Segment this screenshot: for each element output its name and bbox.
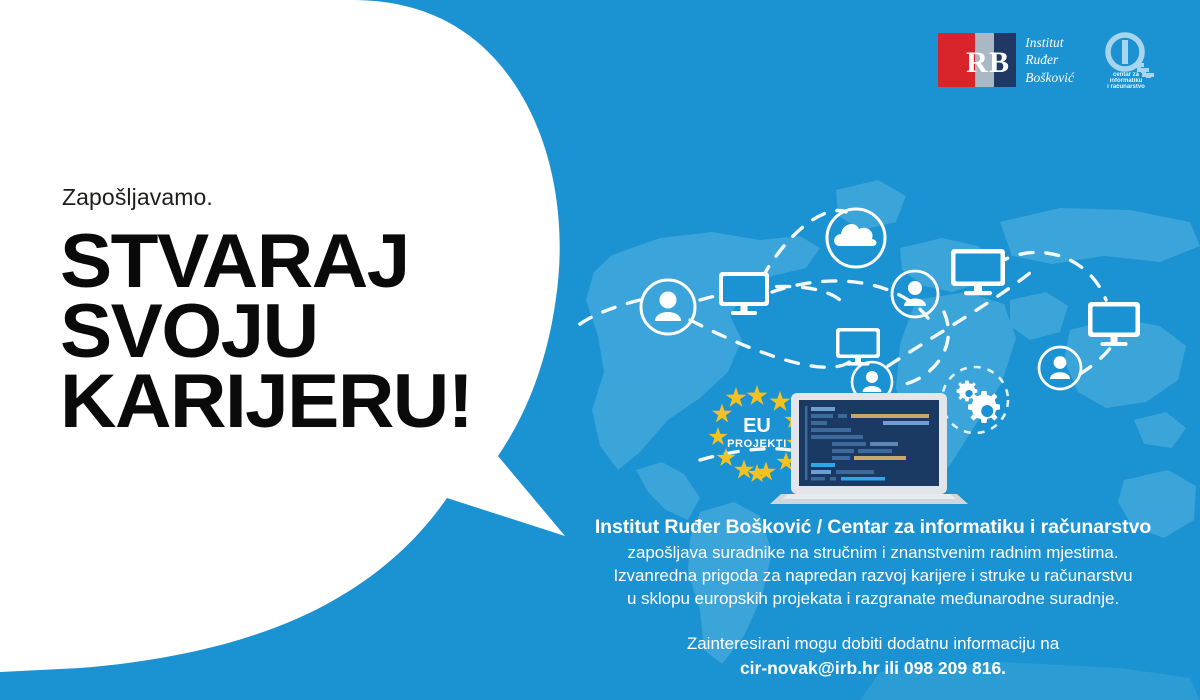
headline-block: Zapošljavamo. STVARAJ SVOJU KARIJERU! [60,186,490,437]
contact-detail-text[interactable]: cir-novak@irb.hr ili 098 209 816. [560,656,1186,681]
contact-block: Zainteresirani mogu dobiti dodatnu infor… [560,633,1186,680]
irb-logo[interactable]: R B Institut Ruđer Bošković [938,33,1074,87]
headline-line-3: KARIJERU! [60,367,503,437]
copy-line-1: zapošljava suradnike na stručnim i znans… [560,542,1186,565]
cir-logo-line3: i računarstvo [1107,84,1145,89]
eyebrow-text: Zapošljavamo. [62,186,490,209]
copy-line-2: Izvanredna prigoda za napredan razvoj ka… [560,565,1186,588]
copy-block: Institut Ruđer Bošković / Centar za info… [560,515,1186,681]
contact-lead-text: Zainteresirani mogu dobiti dodatnu infor… [560,633,1186,656]
headline-line-1: STVARAJ [60,227,503,297]
copy-line-3: u sklopu europskih projekata i razgranat… [560,588,1186,611]
irb-initials-b: B [989,46,1009,79]
headline-line-2: SVOJU [60,297,503,367]
organization-title: Institut Ruđer Bošković / Centar za info… [560,515,1186,539]
irb-wordmark: Institut Ruđer Bošković [1025,34,1074,86]
poster-canvas: EU PROJEKTI [0,0,1200,700]
cir-logo[interactable]: centar za informatiku i računarstvo [1096,31,1164,89]
logo-bar: R B Institut Ruđer Bošković centar za in… [938,30,1164,90]
irb-logo-mark: R B [938,33,1016,87]
irb-initials: R [966,46,988,79]
